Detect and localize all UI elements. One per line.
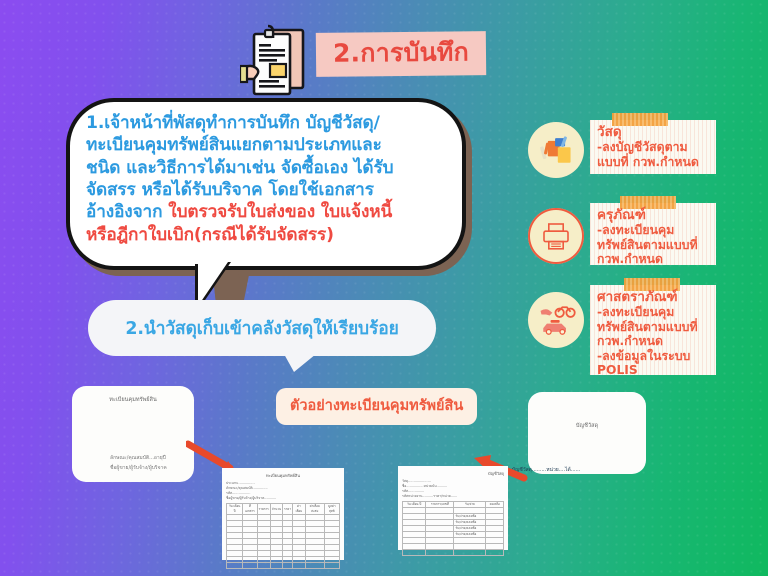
table-cell <box>283 563 293 569</box>
infographic-canvas: 2.การบันทึก 1.เจ้าหน้าที่พัสดุทำการบันทึ… <box>0 0 768 576</box>
form-right-meta-4: รหัสหน่วยงาน..........ราคา/หน่วย...... <box>402 494 504 499</box>
form-right-body: รับ/จ่าย/คงเหลือรับ/จ่าย/คงเหลือรับ/จ่าย… <box>403 508 504 556</box>
step1-line-5b: ใบตรวจรับใบส่งของ ใบแจ้งหนี้ <box>168 202 392 222</box>
printer-icon <box>528 208 584 264</box>
police-glyph <box>536 300 576 340</box>
table-cell <box>257 563 270 569</box>
doc-asset-register-line-1: ลักษณะ/คุณสมบัติ...อายุปี <box>110 454 166 462</box>
table-cell <box>486 550 504 556</box>
card-satraphan-line-5: POLIS <box>597 363 709 378</box>
col-2: รายการ <box>257 504 270 515</box>
table-cell <box>426 550 454 556</box>
sample-register-label: ตัวอย่างทะเบียนคุมทรัพย์สิน <box>276 388 477 425</box>
col-0: วัน เดือน ปี <box>227 504 243 515</box>
col-1: ที่เอกสาร <box>243 504 257 515</box>
card-satraphan-line-2: ทรัพย์สินตามแบบที่ <box>597 320 709 335</box>
table-cell <box>403 550 426 556</box>
form-left-meta-4: ชื่อผู้ขาย/ผู้รับจ้าง/ผู้บริจาค.........… <box>226 496 340 501</box>
step-2-text: 2.นำวัสดุเก็บเข้าคลังวัสดุให้เรียบร้อย <box>125 314 398 342</box>
col-4: ราคา <box>283 504 293 515</box>
card-wasadu-line-1: -ลงบัญชีวัสดุตาม <box>597 140 709 155</box>
printer-glyph <box>540 220 572 252</box>
card-kharuphan-line-3: กวพ.กำหนด <box>597 252 709 267</box>
step1-line-5a: อ้างอิงจาก <box>86 202 168 222</box>
card-kharuphan-line-2: ทรัพย์สินตามแบบที่ <box>597 238 709 253</box>
card-satraphan-line-1: -ลงทะเบียนคุม <box>597 305 709 320</box>
doc-asset-register-line-2: ชื่อผู้ขาย/ผู้รับจ้าง/ผู้บริจาค <box>110 464 167 472</box>
form-left-table: วัน เดือน ปี ที่เอกสาร รายการ จำนวน ราคา… <box>226 503 340 569</box>
form-right-table: วัน เดือน ปี รายการ/เลขที่ รับ/จ่าย คงเห… <box>402 501 504 556</box>
step1-line-6: หรือฎีกาใบเบิก(กรณีได้รับจัดสรร) <box>86 225 334 245</box>
doc-asset-register: ทะเบียนคุมทรัพย์สิน ลักษณะ/คุณสมบัติ...อ… <box>72 386 194 482</box>
police-equipment-icon <box>528 292 584 348</box>
table-row <box>227 563 340 569</box>
table-cell <box>227 563 243 569</box>
card-satraphan-line-3: กวพ.กำหนด <box>597 334 709 349</box>
table-cell <box>324 563 339 569</box>
supplies-glyph <box>536 130 576 170</box>
card-satraphan: ศาสตราภัณฑ์ -ลงทะเบียนคุม ทรัพย์สินตามแบ… <box>590 285 716 375</box>
form-left-body <box>227 515 340 569</box>
table-cell <box>454 550 486 556</box>
doc-material-account-heading: บัญชีวัสดุ <box>528 422 646 430</box>
card-kharuphan-title: ครุภัณฑ์ <box>597 208 709 223</box>
table-cell <box>270 563 282 569</box>
step-1-text: 1.เจ้าหน้าที่พัสดุทำการบันทึก บัญชีวัสดุ… <box>86 112 456 246</box>
table-cell <box>305 563 324 569</box>
card-wasadu-line-2: แบบที่ กวพ.กำหนด <box>597 155 709 170</box>
card-wasadu: วัสดุ -ลงบัญชีวัสดุตาม แบบที่ กวพ.กำหนด <box>590 120 716 174</box>
table-cell <box>293 563 306 569</box>
page-title: 2.การบันทึก <box>316 31 486 76</box>
office-supplies-icon <box>528 122 584 178</box>
card-kharuphan-line-1: -ลงทะเบียนคุม <box>597 223 709 238</box>
table-header-row: วัน เดือน ปี ที่เอกสาร รายการ จำนวน ราคา… <box>227 504 340 515</box>
speech-bubble-step-2: 2.นำวัสดุเก็บเข้าคลังวัสดุให้เรียบร้อย <box>88 300 436 356</box>
table-row <box>403 550 504 556</box>
card-wasadu-title: วัสดุ <box>597 125 709 140</box>
col-7: มูลค่าสุทธิ <box>324 504 339 515</box>
form-left-title: ทะเบียนคุมทรัพย์สิน <box>226 472 340 479</box>
form-asset-register-table: ทะเบียนคุมทรัพย์สิน ประเภท..............… <box>222 468 344 560</box>
col-5: ค่าเสื่อม <box>293 504 306 515</box>
table-cell <box>243 563 257 569</box>
form-material-account-table: บัญชีวัสดุ วัสดุ..................... ชื… <box>398 466 508 550</box>
doc-asset-register-heading: ทะเบียนคุมทรัพย์สิน <box>72 396 194 404</box>
form-right-title: บัญชีวัสดุ <box>402 470 504 477</box>
step1-line-4: จัดสรร หรือได้รับบริจาค โดยใช้เอกสาร <box>86 180 374 200</box>
card-satraphan-title: ศาสตราภัณฑ์ <box>597 290 709 305</box>
doc-material-account: บัญชีวัสดุ <box>528 392 646 474</box>
col-3: จำนวน <box>270 504 282 515</box>
step1-line-1: 1.เจ้าหน้าที่พัสดุทำการบันทึก บัญชีวัสดุ… <box>86 113 380 133</box>
card-kharuphan: ครุภัณฑ์ -ลงทะเบียนคุม ทรัพย์สินตามแบบที… <box>590 203 716 265</box>
col-6: ค่าเสื่อมสะสม <box>305 504 324 515</box>
step1-line-3: ชนิด และวิธีการได้มาเช่น จัดซื้อเอง ได้ร… <box>86 158 393 178</box>
card-satraphan-line-4: -ลงข้อมูลในระบบ <box>597 349 709 364</box>
step1-line-2: ทะเบียนคุมทรัพย์สินแยกตามประเภทและ <box>86 135 382 155</box>
clipboard-in-hand-icon <box>240 22 320 104</box>
